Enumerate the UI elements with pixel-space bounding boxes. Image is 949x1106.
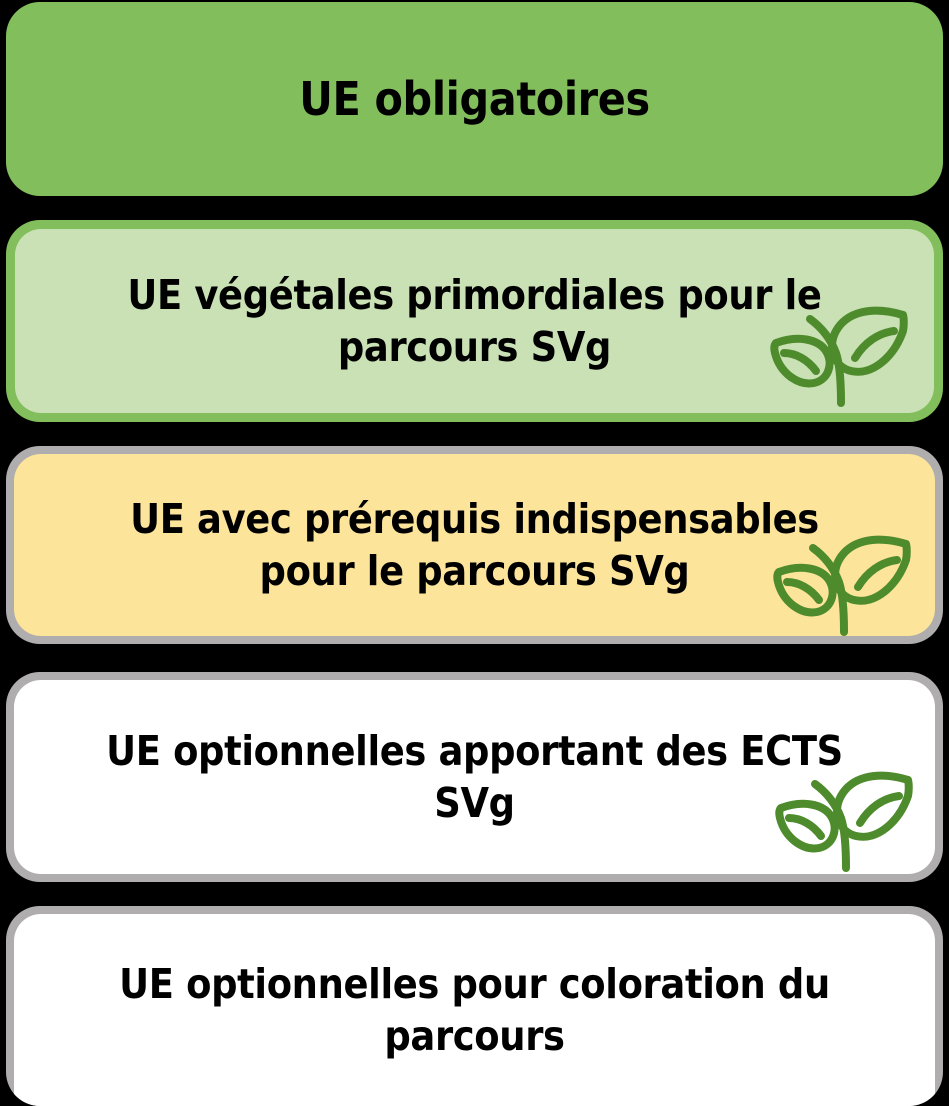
card-body: UE obligatoires — [6, 2, 943, 196]
card-label-ects: UE optionnelles apportant des ECTS SVg — [60, 725, 889, 830]
card-ue-vegetales-primordiales[interactable]: UE végétales primordiales pour le parcou… — [6, 220, 943, 422]
card-ue-optionnelles-coloration[interactable]: UE optionnelles pour coloration du parco… — [6, 906, 943, 1106]
card-ue-optionnelles-ects[interactable]: UE optionnelles apportant des ECTS SVg — [6, 672, 943, 882]
card-label-vegetales: UE végétales primordiales pour le parcou… — [61, 269, 888, 374]
card-body: UE avec prérequis indispensables pour le… — [14, 454, 935, 636]
card-body: UE végétales primordiales pour le parcou… — [15, 229, 934, 413]
card-label-prerequis: UE avec prérequis indispensables pour le… — [60, 493, 889, 598]
card-ue-avec-prerequis[interactable]: UE avec prérequis indispensables pour le… — [6, 446, 943, 644]
card-body: UE optionnelles apportant des ECTS SVg — [14, 680, 935, 874]
card-label-coloration: UE optionnelles pour coloration du parco… — [60, 958, 889, 1063]
card-ue-obligatoires[interactable]: UE obligatoires — [6, 2, 943, 196]
card-body: UE optionnelles pour coloration du parco… — [14, 914, 935, 1106]
page-title: UE obligatoires — [53, 70, 896, 129]
ue-category-stack: UE obligatoires UE végétales primordiale… — [0, 0, 949, 1106]
